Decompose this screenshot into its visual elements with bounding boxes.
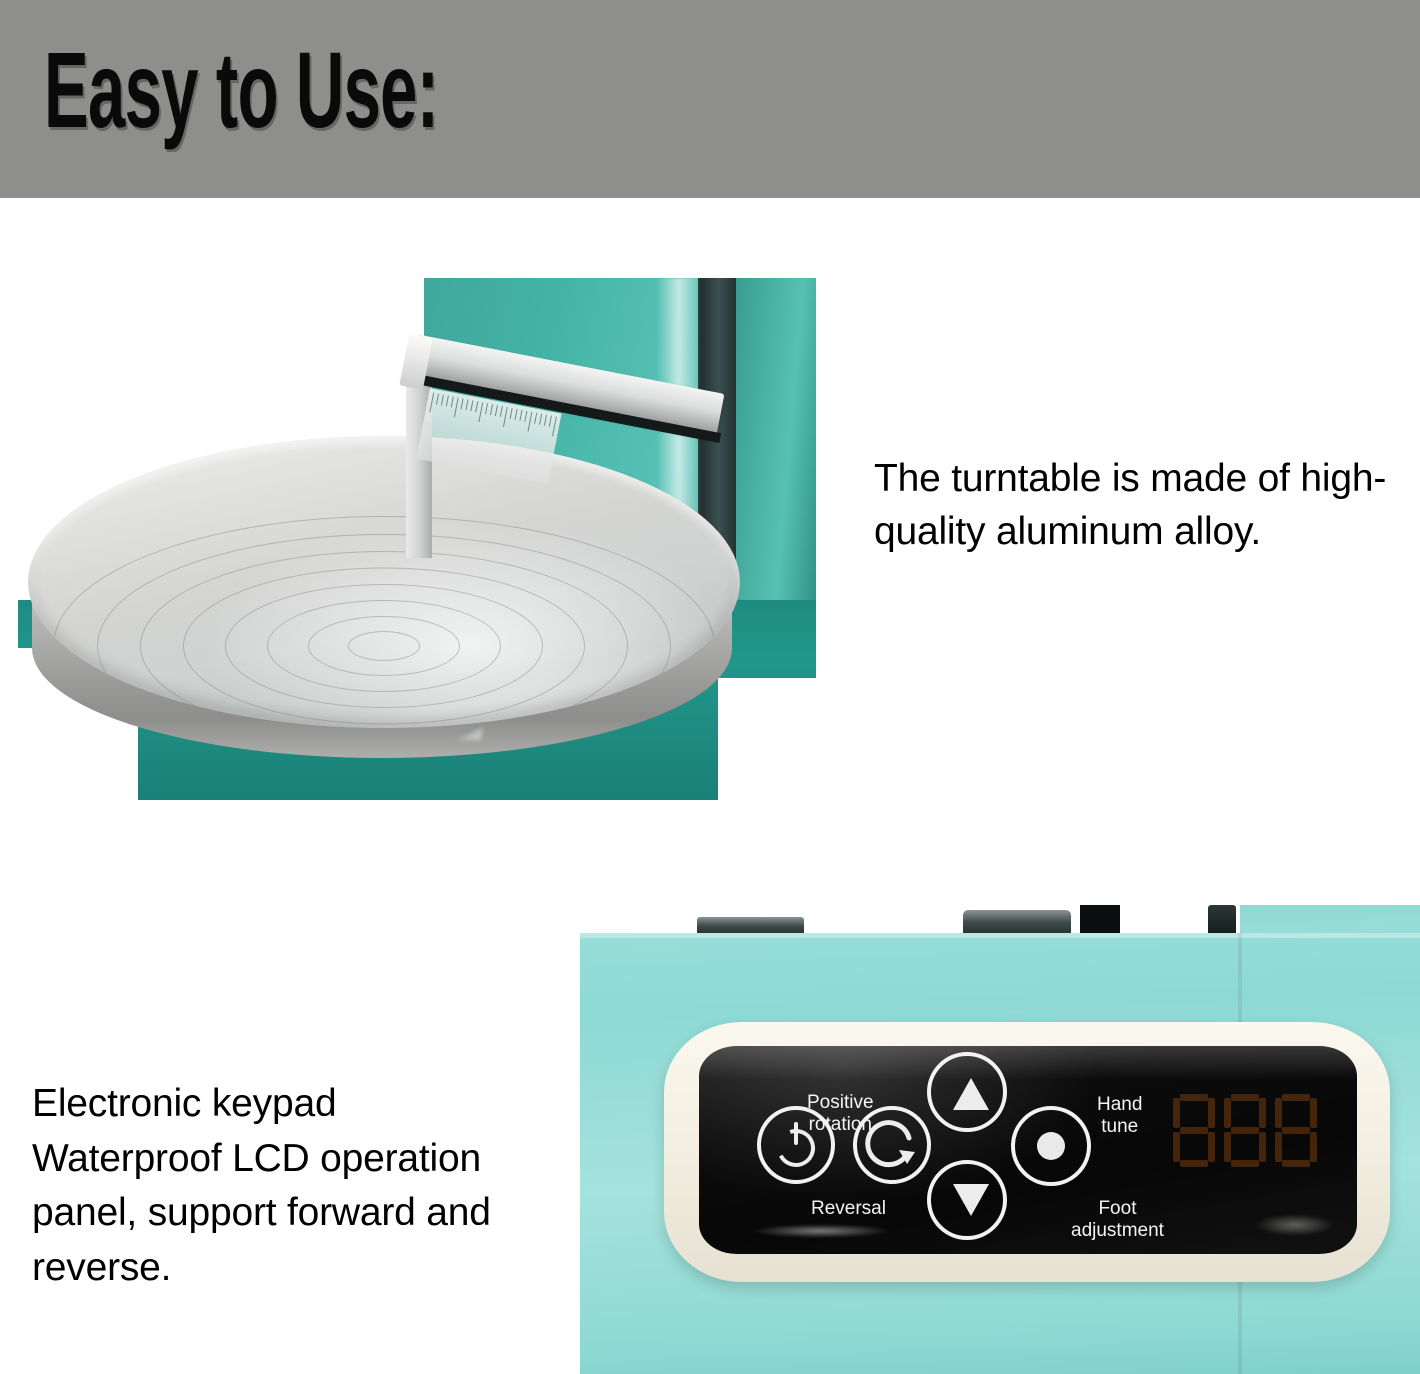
led-segment (1173, 1098, 1180, 1128)
label-reversal: Reversal (811, 1198, 886, 1220)
ruler-tick (534, 413, 537, 424)
ruler-tick (519, 410, 522, 421)
ruler-tick (475, 401, 478, 412)
led-segment (1224, 1098, 1231, 1128)
header-banner: Easy to Use: (0, 0, 1420, 198)
dot-icon (1037, 1132, 1065, 1160)
base-mask-right (718, 678, 816, 800)
led-segment (1282, 1094, 1310, 1101)
led-segment (1310, 1132, 1317, 1162)
label-positive-rotation: Positive rotation (807, 1092, 874, 1136)
ruler-tick (451, 397, 454, 408)
caption-line: Electronic keypad (32, 1077, 562, 1132)
caption-line: reverse. (32, 1241, 562, 1296)
triangle-down-icon (953, 1184, 989, 1216)
ruler-tick (470, 400, 473, 411)
ruler-tick (549, 416, 552, 427)
ruler-tick (552, 417, 557, 437)
ruler-tick (528, 412, 533, 432)
groove-ring (348, 631, 420, 661)
led-segment (1231, 1127, 1259, 1134)
caption-line: panel, support forward and (32, 1186, 562, 1241)
ruler-tick (510, 408, 513, 419)
led-segment (1282, 1127, 1310, 1134)
led-segment (1310, 1098, 1317, 1128)
led-segment (1282, 1160, 1310, 1167)
ruler-tick (524, 411, 527, 422)
led-digit (1275, 1094, 1317, 1168)
ruler-tick (544, 415, 547, 426)
label-line: tune (1097, 1116, 1142, 1138)
turntable-disc (28, 436, 740, 728)
ruler-tick (465, 399, 468, 410)
ruler-tick (503, 407, 508, 427)
screen-wear-mark (1255, 1214, 1335, 1236)
led-digit (1224, 1094, 1266, 1168)
decrease-button[interactable] (927, 1160, 1007, 1240)
ruler-tick (485, 403, 488, 414)
turntable-caption: The turntable is made of high-quality al… (874, 452, 1394, 558)
label-line: rotation (807, 1114, 874, 1136)
led-segment (1231, 1160, 1259, 1167)
label-line: adjustment (1071, 1220, 1164, 1242)
led-segment (1180, 1094, 1208, 1101)
keypad-screen[interactable]: Positive rotation Reversal Hand tune Foo… (699, 1046, 1357, 1254)
page-title: Easy to Use: (44, 36, 438, 144)
triangle-up-icon (953, 1078, 989, 1110)
led-segment (1208, 1098, 1215, 1128)
ruler-tick (500, 406, 503, 417)
adjust-button[interactable] (1011, 1106, 1091, 1186)
led-segment (1275, 1098, 1282, 1128)
label-hand-tune: Hand tune (1097, 1094, 1142, 1138)
led-segment (1231, 1094, 1259, 1101)
ruler-tick (515, 409, 518, 420)
screen-gloss (699, 1046, 1357, 1080)
led-digit (1173, 1094, 1215, 1168)
ruler-tick (495, 405, 498, 416)
led-segment (1173, 1132, 1180, 1162)
label-line: Foot (1071, 1198, 1164, 1220)
screen-wear-mark (751, 1224, 891, 1238)
machine-body-edge (580, 933, 1420, 938)
label-foot-adjustment: Foot adjustment (1071, 1198, 1164, 1242)
led-segment (1180, 1160, 1208, 1167)
ruler-tick (478, 402, 483, 422)
ruler-tick (490, 404, 493, 415)
control-panel-photo: Positive rotation Reversal Hand tune Foo… (580, 905, 1420, 1374)
led-segment (1208, 1132, 1215, 1162)
label-line: Positive (807, 1092, 874, 1114)
led-segment (1259, 1098, 1266, 1128)
label-line: Hand (1097, 1094, 1142, 1116)
control-panel-caption: Electronic keypad Waterproof LCD operati… (32, 1077, 562, 1295)
caption-line: Waterproof LCD operation (32, 1132, 562, 1187)
ruler-tick (429, 393, 434, 413)
led-display (1173, 1094, 1317, 1168)
ruler-tick (441, 395, 444, 406)
led-segment (1180, 1127, 1208, 1134)
led-segment (1275, 1132, 1282, 1162)
led-segment (1224, 1132, 1231, 1162)
turntable-photo (18, 278, 816, 800)
ruler-tick (461, 398, 464, 409)
ruler-tick (454, 397, 459, 417)
ruler-tick (446, 396, 449, 407)
increase-button[interactable] (927, 1052, 1007, 1132)
led-segment (1259, 1132, 1266, 1162)
ruler-tick (539, 414, 542, 425)
ruler-tick (436, 394, 439, 405)
